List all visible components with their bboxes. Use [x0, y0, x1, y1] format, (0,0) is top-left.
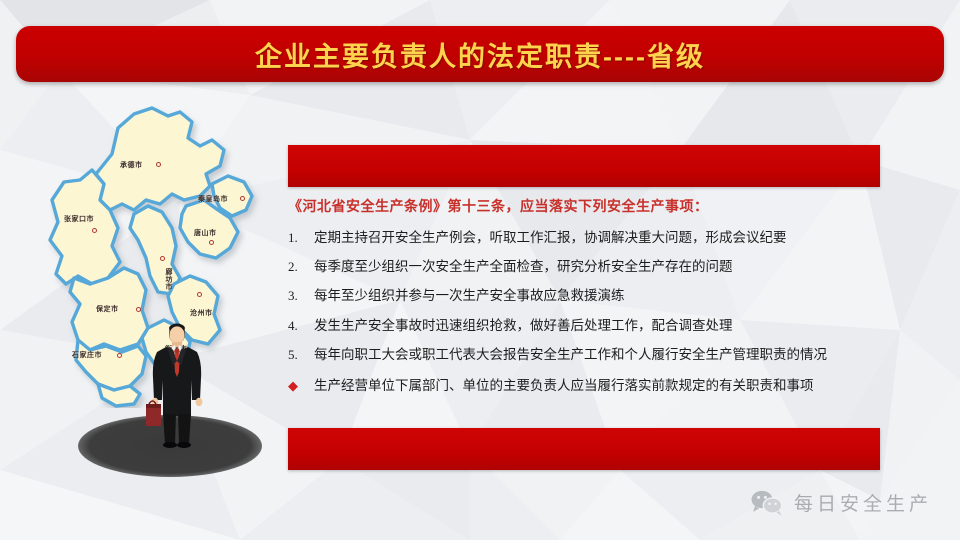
list-item-number: 5. — [288, 347, 314, 363]
list-item-number: 1. — [288, 230, 314, 246]
wechat-icon — [750, 490, 784, 516]
list-item-number: 4. — [288, 318, 314, 334]
list-item-text: 定期主持召开安全生产例会，听取工作汇报，协调解决重大问题，形成会议纪要 — [314, 230, 888, 246]
list-item-text: 每年向职工大会或职工代表大会报告安全生产工作和个人履行安全生产管理职责的情况 — [314, 347, 888, 363]
city-label-qinhuangdao: 秦皇岛市 — [198, 194, 228, 204]
watermark-text: 每日安全生产 — [794, 489, 932, 516]
list-item-text: 每年至少组织并参与一次生产安全事故应急救援演练 — [314, 288, 888, 304]
city-dot-baoding — [136, 307, 141, 312]
content-footer-red-bar — [288, 428, 880, 470]
city-dot-zhangjiakou — [92, 228, 97, 233]
city-dot-chengde — [156, 162, 161, 167]
list-item: 2. 每季度至少组织一次安全生产全面检查，研究分析安全生产存在的问题 — [288, 259, 888, 275]
content-header-red-bar — [288, 145, 880, 187]
list-item-number: 2. — [288, 259, 314, 275]
list-item-number: 3. — [288, 288, 314, 304]
content-panel: 《河北省安全生产条例》第十三条，应当落实下列安全生产事项： 1. 定期主持召开安… — [288, 196, 888, 418]
city-dot-tangshan — [209, 240, 214, 245]
city-label-shijiazhuang: 石家庄市 — [72, 350, 102, 360]
slide-title-banner: 企业主要负责人的法定职责----省级 — [16, 26, 944, 82]
list-item: 4. 发生生产安全事故时迅速组织抢救，做好善后处理工作，配合调查处理 — [288, 318, 888, 334]
city-dot-qinhuangdao — [240, 196, 245, 201]
list-item: 3. 每年至少组织并参与一次生产安全事故应急救援演练 — [288, 288, 888, 304]
list-item: 5. 每年向职工大会或职工代表大会报告安全生产工作和个人履行安全生产管理职责的情… — [288, 347, 888, 363]
clause-heading: 《河北省安全生产条例》第十三条，应当落实下列安全生产事项： — [288, 196, 888, 216]
list-item-text: 每季度至少组织一次安全生产全面检查，研究分析安全生产存在的问题 — [314, 259, 888, 275]
city-dot-shijiazhuang — [117, 353, 122, 358]
city-label-chengde: 承德市 — [120, 160, 143, 170]
city-label-langfang: 廊坊市 — [163, 268, 173, 291]
city-dot-langfang — [160, 256, 165, 261]
watermark: 每日安全生产 — [750, 489, 932, 516]
city-label-zhangjiakou: 张家口市 — [64, 214, 94, 224]
city-dot-cangzhou — [197, 292, 202, 297]
city-label-tangshan: 唐山市 — [194, 228, 217, 238]
businessman-figure — [146, 320, 208, 448]
diamond-bullet-icon: ◆ — [288, 378, 314, 394]
footnote-text: 生产经营单位下属部门、单位的主要负责人应当履行落实前款规定的有关职责和事项 — [314, 378, 888, 394]
list-item: 1. 定期主持召开安全生产例会，听取工作汇报，协调解决重大问题，形成会议纪要 — [288, 230, 888, 246]
city-label-baoding: 保定市 — [96, 304, 119, 314]
city-label-cangzhou: 沧州市 — [190, 308, 213, 318]
page-title: 企业主要负责人的法定职责----省级 — [255, 35, 705, 74]
footnote-item: ◆ 生产经营单位下属部门、单位的主要负责人应当履行落实前款规定的有关职责和事项 — [288, 378, 888, 394]
list-item-text: 发生生产安全事故时迅速组织抢救，做好善后处理工作，配合调查处理 — [314, 318, 888, 334]
